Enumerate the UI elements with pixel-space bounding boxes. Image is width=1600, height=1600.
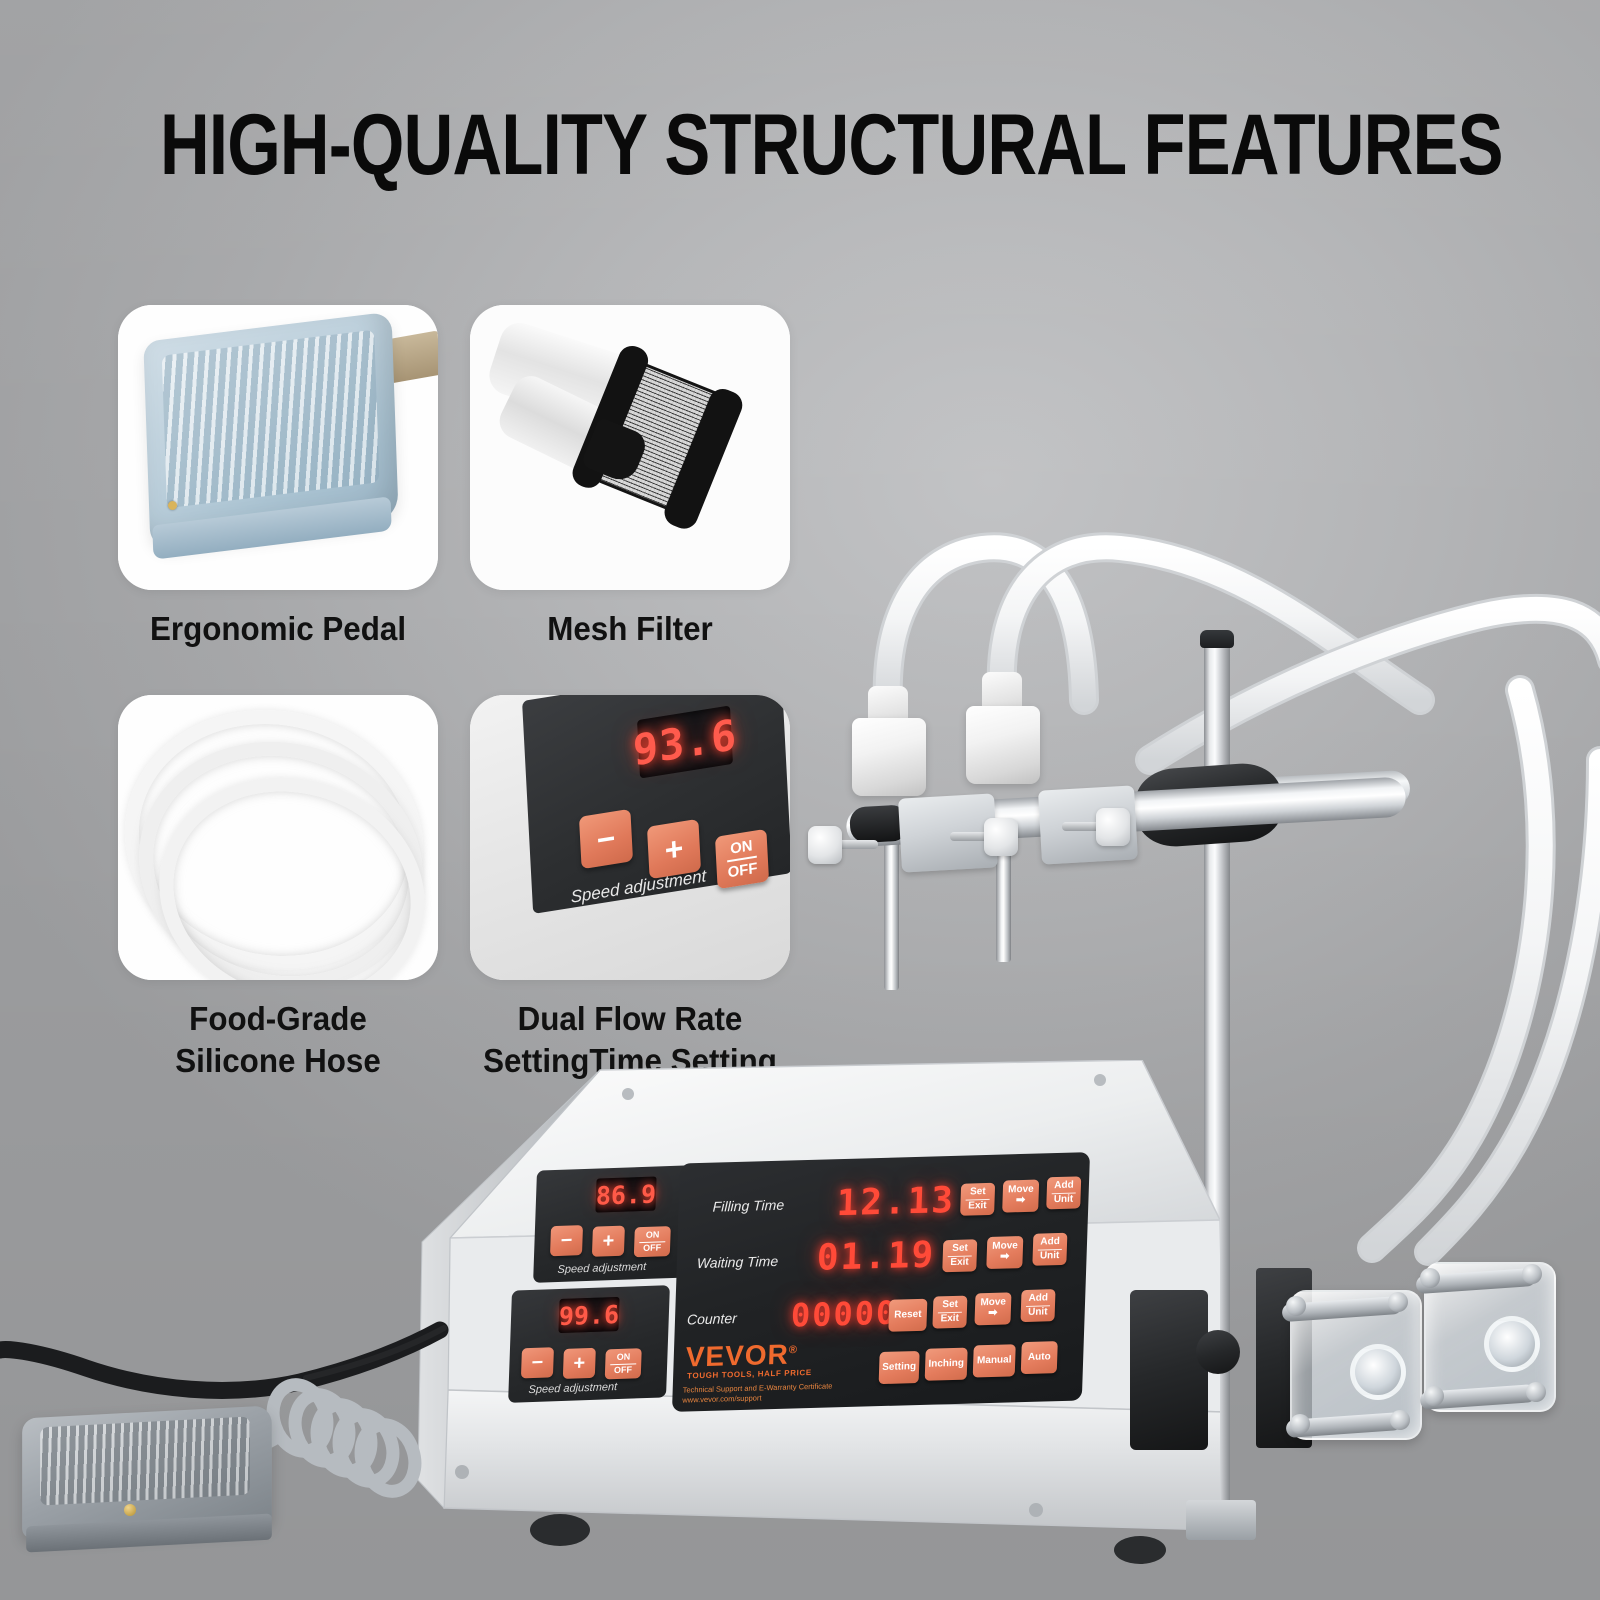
- waiting-time-value: 01.19: [816, 1234, 936, 1278]
- reset-label: Reset: [894, 1310, 922, 1321]
- setting-button[interactable]: Setting: [879, 1351, 920, 1384]
- pump-bolt-4: [1390, 1410, 1410, 1430]
- waiting-add-unit-button[interactable]: Add Unit: [1032, 1233, 1067, 1266]
- exit-label: Exit: [950, 1257, 969, 1268]
- manual-button[interactable]: Manual: [973, 1344, 1016, 1377]
- speed-lower-plus-button[interactable]: +: [563, 1348, 596, 1379]
- pump-bolt-2: [1388, 1292, 1408, 1312]
- auto-label: Auto: [1028, 1352, 1051, 1363]
- speed-lower-onoff-button[interactable]: ON OFF: [605, 1348, 642, 1379]
- manual-label: Manual: [977, 1355, 1012, 1366]
- arrow-right-icon: ➡: [988, 1308, 998, 1320]
- speed-panel-lower-led: 99.6: [558, 1297, 619, 1333]
- unit-label: Unit: [1028, 1307, 1048, 1318]
- reset-button[interactable]: Reset: [888, 1299, 927, 1332]
- nozzle-stem-left: [884, 840, 899, 990]
- foot-pedal-ribs: [40, 1416, 250, 1505]
- exit-label: Exit: [968, 1201, 987, 1212]
- filling-move-button[interactable]: Move ➡: [1002, 1180, 1039, 1213]
- thumbscrew-1[interactable]: [984, 818, 1018, 856]
- pump-mount-bracket: [1130, 1290, 1208, 1450]
- speed-panel-lower: 99.6 − + ON OFF Speed adjustment: [508, 1285, 670, 1403]
- speed-panel-upper: 86.9 − + ON OFF Speed adjustment: [533, 1165, 695, 1283]
- speed-upper-plus-button[interactable]: +: [592, 1226, 625, 1257]
- stand-rod-cap: [1200, 630, 1234, 648]
- plus-icon: +: [573, 1352, 585, 1374]
- pump-hub-left: [1350, 1344, 1406, 1400]
- counter-value: 00000: [790, 1294, 898, 1335]
- waiting-time-label: Waiting Time: [697, 1253, 779, 1271]
- setting-label: Setting: [882, 1362, 916, 1373]
- foot-pedal-screw: [124, 1504, 136, 1516]
- inching-label: Inching: [928, 1358, 964, 1370]
- pump-mount-pivot: [1196, 1330, 1240, 1374]
- nozzle-head-right[interactable]: [966, 706, 1040, 784]
- pump-bolt-3: [1290, 1414, 1310, 1434]
- unit-label: Unit: [1040, 1251, 1060, 1262]
- add-label: Add: [1054, 1181, 1074, 1192]
- arrow-right-icon: ➡: [1000, 1252, 1010, 1264]
- speed-upper-minus-button[interactable]: −: [550, 1225, 583, 1256]
- speed-lower-minus-button[interactable]: −: [521, 1347, 554, 1378]
- inching-button[interactable]: Inching: [925, 1348, 968, 1381]
- speed-lower-label: Speed adjustment: [528, 1381, 617, 1396]
- exit-label: Exit: [940, 1313, 959, 1324]
- thumbscrew-0[interactable]: [808, 826, 842, 864]
- speed-upper-label: Speed adjustment: [557, 1261, 646, 1276]
- nozzle-head-left[interactable]: [852, 718, 926, 796]
- speed-upper-onoff-button[interactable]: ON OFF: [634, 1226, 671, 1257]
- pump-bolt-6: [1522, 1264, 1542, 1284]
- registered-icon: ®: [789, 1344, 799, 1356]
- counter-label: Counter: [687, 1310, 737, 1327]
- thumbscrew-2[interactable]: [1096, 808, 1130, 846]
- waiting-set-exit-button[interactable]: Set Exit: [942, 1239, 977, 1272]
- counter-move-button[interactable]: Move ➡: [974, 1292, 1011, 1325]
- filling-time-value: 12.13: [836, 1180, 956, 1224]
- pump-bolt-7: [1424, 1386, 1444, 1406]
- arrow-right-icon: ➡: [1016, 1195, 1026, 1207]
- pump-hub-right: [1484, 1316, 1540, 1372]
- pump-bolt-5: [1420, 1268, 1440, 1288]
- counter-set-exit-button[interactable]: Set Exit: [932, 1296, 967, 1329]
- filling-add-unit-button[interactable]: Add Unit: [1046, 1176, 1081, 1209]
- auto-button[interactable]: Auto: [1021, 1341, 1058, 1374]
- add-label: Add: [1040, 1237, 1060, 1248]
- unit-label: Unit: [1054, 1194, 1074, 1205]
- set-label: Set: [942, 1300, 958, 1311]
- speed-panel-lower-value: 99.6: [558, 1299, 619, 1330]
- filling-time-label: Filling Time: [712, 1197, 784, 1215]
- off-label: OFF: [643, 1243, 661, 1254]
- speed-panel-upper-led: 86.9: [595, 1176, 656, 1212]
- main-control-panel: Filling Time 12.13 Set Exit Move ➡ Add U…: [672, 1152, 1090, 1412]
- vevor-wordmark: VEVOR: [685, 1339, 789, 1373]
- on-label: ON: [646, 1230, 660, 1240]
- waiting-move-button[interactable]: Move ➡: [986, 1236, 1023, 1269]
- minus-icon: −: [560, 1229, 572, 1251]
- product-machine: 86.9 − + ON OFF Speed adjustment 99.6 − …: [0, 0, 1600, 1600]
- on-label: ON: [617, 1352, 631, 1362]
- clamp-screw-shaft-0: [836, 840, 878, 849]
- add-label: Add: [1028, 1293, 1048, 1304]
- plus-icon: +: [602, 1230, 614, 1252]
- counter-add-unit-button[interactable]: Add Unit: [1020, 1289, 1055, 1322]
- stand-base-block: [1186, 1500, 1256, 1540]
- speed-panel-upper-value: 86.9: [595, 1179, 656, 1210]
- pump-bolt-1: [1286, 1296, 1306, 1316]
- set-label: Set: [970, 1187, 986, 1198]
- pump-bolt-8: [1526, 1382, 1546, 1402]
- off-label: OFF: [614, 1365, 632, 1376]
- filling-set-exit-button[interactable]: Set Exit: [960, 1183, 995, 1216]
- vevor-support-line2: www.vevor.com/support: [682, 1393, 761, 1404]
- set-label: Set: [952, 1244, 968, 1255]
- minus-icon: −: [531, 1352, 543, 1374]
